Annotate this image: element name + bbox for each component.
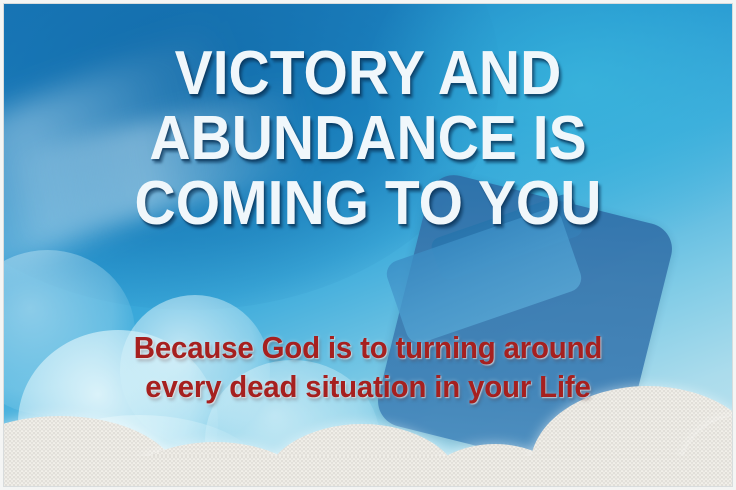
headline-line-3: COMING TO YOU [53, 174, 682, 234]
subtitle-line-2: every dead situation in your Life [45, 369, 691, 406]
headline-line-2: ABUNDANCE IS [53, 109, 682, 169]
subtitle-line-1: Because God is to turning around [45, 330, 691, 367]
subtitle: Because God is to turning around every d… [0, 330, 736, 405]
page-title: VICTORY AND ABUNDANCE IS COMING TO YOU [0, 44, 736, 234]
watermark-text: WRITINGSOFSHELLYANCHRISTIE [0, 174, 1, 444]
headline-line-1: VICTORY AND [53, 44, 682, 104]
poster-image: VICTORY AND ABUNDANCE IS COMING TO YOU B… [0, 0, 736, 490]
